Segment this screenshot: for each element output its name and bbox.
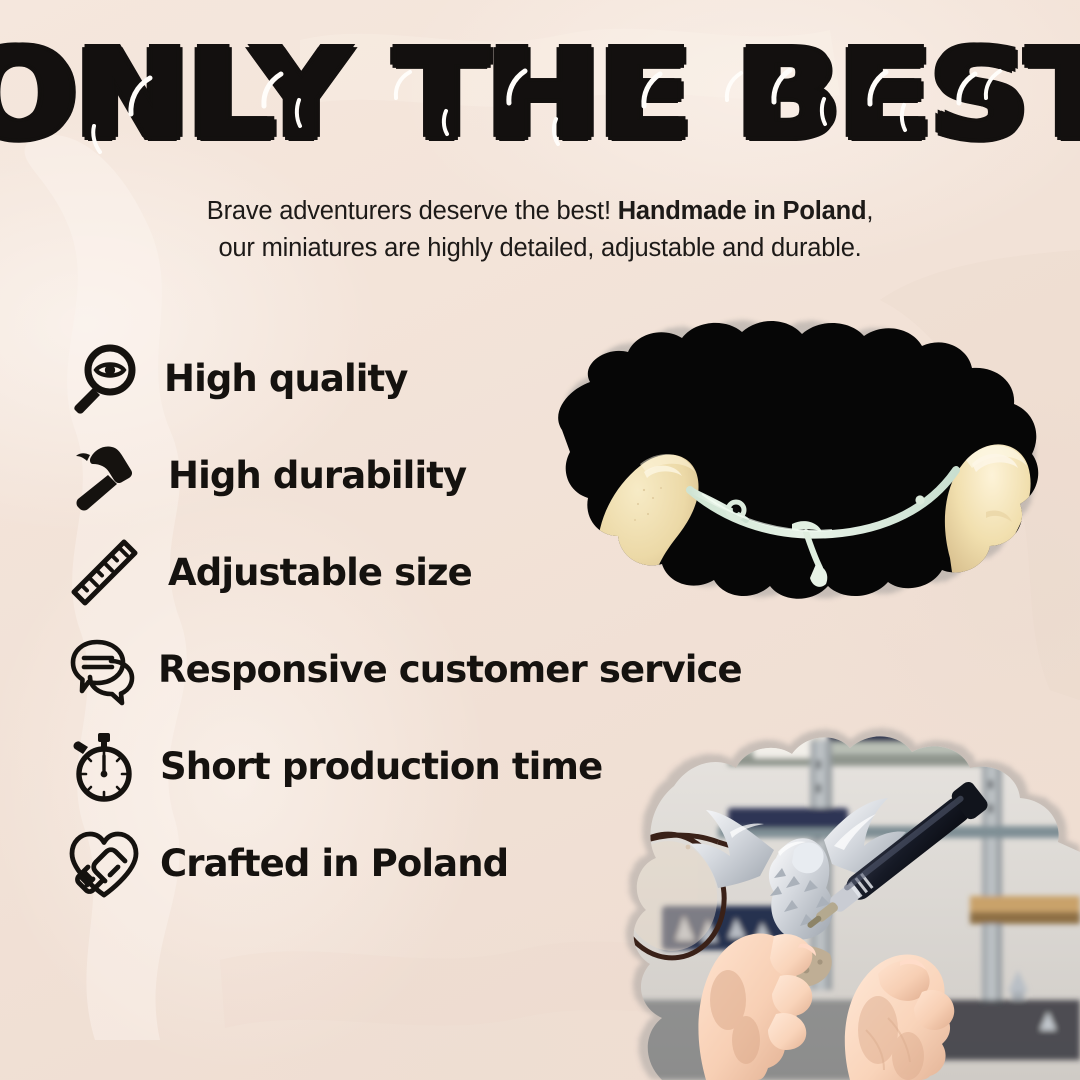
subtitle-text-pre: Brave adventurers deserve the best! (207, 197, 618, 225)
page-title: ONLY THE BEST (0, 34, 1080, 157)
flexible-miniature-photo: Two fingers bending a pale green flexibl… (520, 312, 1080, 632)
magnifier-eye-icon (62, 337, 146, 421)
feature-label: High durability (168, 454, 466, 497)
feature-label: High quality (164, 357, 408, 400)
ruler-icon (62, 531, 146, 615)
title-block: ONLY THE BEST (0, 34, 1080, 150)
workshop-painting-photo: Hands holding a silver winged dragon min… (578, 700, 1080, 1080)
feature-label: Adjustable size (168, 551, 472, 594)
subtitle: Brave adventurers deserve the best! Hand… (0, 193, 1080, 266)
feature-label: Short production time (160, 745, 602, 788)
speech-bubbles-icon (62, 628, 146, 712)
subtitle-line-2: our miniatures are highly detailed, adju… (0, 230, 1080, 267)
subtitle-text-post: , (866, 197, 873, 225)
heart-handshake-icon (62, 822, 146, 906)
subtitle-highlight: Handmade in Poland (618, 197, 867, 225)
feature-label: Responsive customer service (158, 648, 742, 691)
subtitle-line-1: Brave adventurers deserve the best! Hand… (0, 193, 1080, 230)
feature-label: Crafted in Poland (160, 842, 508, 885)
stopwatch-icon (62, 725, 146, 809)
hammer-icon (62, 434, 146, 518)
